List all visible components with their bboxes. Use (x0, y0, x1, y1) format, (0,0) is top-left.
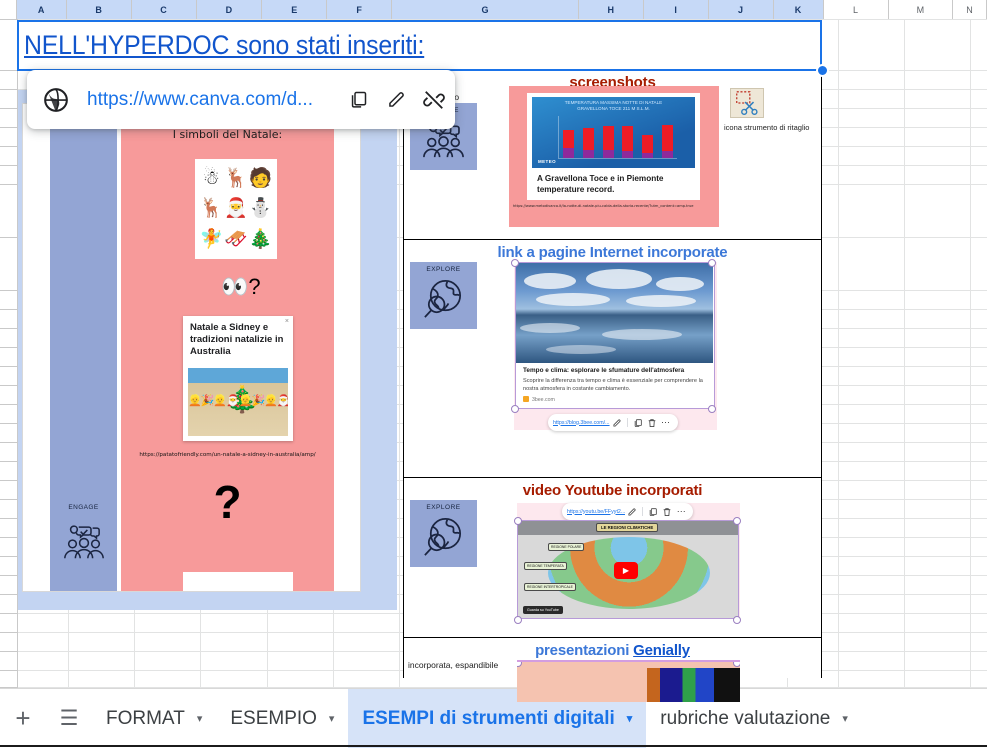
resize-handle[interactable] (733, 616, 741, 624)
chevron-down-icon[interactable]: ▾ (197, 712, 203, 725)
close-icon[interactable]: × (285, 318, 289, 325)
resize-handle[interactable] (517, 660, 522, 667)
grid-column-line (838, 19, 839, 688)
poster-title: I simboli del Natale: (121, 128, 334, 141)
copy-icon[interactable] (632, 417, 644, 429)
watch-on-youtube-label[interactable]: Guarda su YouTube (523, 606, 563, 614)
column-header-bar: ABCDEFGHIJKLMN (0, 0, 987, 20)
column-header-m[interactable]: M (889, 0, 954, 19)
tag-regione-temperata: REGIONE TEMPERATA (524, 562, 567, 570)
sheet-tab-2[interactable]: ESEMPIO▾ (216, 689, 348, 748)
chart-bar (662, 125, 673, 158)
section-screenshots: screenshots di riferimento ENGAGE (404, 70, 821, 240)
video-url-text[interactable]: https://youtu.be/FFyyt2... (567, 509, 625, 515)
section-presentazioni-genially: presentazioni Genially incorporata, espa… (404, 638, 821, 678)
sheet-tab-1[interactable]: FORMAT▾ (92, 689, 216, 748)
section-title: presentazioni Genially (404, 638, 821, 659)
christmas-symbol: ☃ (203, 169, 220, 188)
column-header-l[interactable]: L (824, 0, 889, 19)
chevron-down-icon[interactable]: ▾ (842, 712, 848, 725)
copy-icon[interactable] (647, 506, 659, 518)
sheet-tab-label: rubriche valutazione (660, 708, 830, 730)
web-card-headline: Tempo e clima: esplorare le sfumature de… (523, 367, 684, 374)
snipping-tool-label: icona strumento di ritaglio (724, 123, 810, 133)
christmas-symbol: 🦌 (199, 199, 223, 218)
plus-icon[interactable]: + (0, 699, 46, 739)
eyes-question-emoji: 👀? (221, 274, 261, 300)
sheet-tab-label: ESEMPIO (230, 708, 317, 730)
resize-handle[interactable] (514, 616, 522, 624)
column-header-n[interactable]: N (953, 0, 986, 19)
column-header-a[interactable]: A (17, 0, 67, 19)
screenshot-card[interactable]: TEMPERATURA MASSIMA NOTTE DI NATALE GRAV… (509, 86, 719, 227)
more-options-icon[interactable]: ⋯ (660, 417, 672, 429)
christmas-symbol: 🦌 (224, 169, 248, 188)
selected-title-cell[interactable]: NELL'HYPERDOC sono stati inseriti: (17, 20, 822, 71)
row-header-strip[interactable] (0, 19, 18, 688)
sky-clouds-photo (516, 263, 713, 363)
link-action-toolbar[interactable]: https://blog.3bee.com/... ⋯ (548, 414, 678, 431)
edit-icon[interactable] (626, 506, 638, 518)
section-title: link a pagine Internet incorporate (404, 240, 821, 261)
remove-link-icon[interactable] (417, 83, 451, 117)
web-card-source: 3bee.com (523, 396, 555, 403)
resize-handle[interactable] (733, 660, 740, 667)
link-url-text[interactable]: https://blog.3bee.com/... (553, 420, 610, 426)
delete-icon[interactable] (661, 506, 673, 518)
beach-christmas-photo: 🎄 👱🎉👱🎅👱🎉👱🎅👱🎉👱 (188, 368, 288, 436)
column-header-d[interactable]: D (197, 0, 263, 19)
chevron-down-icon[interactable]: ▾ (329, 712, 335, 725)
youtube-player-frame[interactable]: LE REGIONI CLIMATICHE REGIONE POLARE REG… (517, 520, 739, 619)
resize-handle[interactable] (708, 405, 716, 413)
section-link-pagine-internet: link a pagine Internet incorporate EXPLO… (404, 240, 821, 478)
christmas-symbol: 🎄 (249, 230, 273, 249)
edit-link-icon[interactable] (379, 83, 413, 117)
sheet-tab-label: ESEMPI di strumenti digitali (362, 708, 614, 730)
genially-link[interactable]: Genially (633, 642, 690, 659)
youtube-play-button[interactable]: ▶ (614, 562, 638, 579)
column-header-j[interactable]: J (709, 0, 774, 19)
chart-bar (563, 130, 574, 158)
christmas-symbol: 🎅 (224, 199, 248, 218)
poster-source-url: https://patatofriendly.com/un-natale-a-s… (121, 452, 334, 458)
screenshot-white-frame: TEMPERATURA MASSIMA NOTTE DI NATALE GRAV… (527, 93, 700, 200)
video-title-banner: LE REGIONI CLIMATICHE (596, 523, 658, 532)
christmas-symbols-card: ☃🦌🧑🦌🎅⛄🧚🛷🎄 (195, 159, 277, 259)
christmas-symbol: 🛷 (224, 230, 248, 249)
chart-bar (603, 126, 614, 158)
chart-bar (583, 128, 594, 158)
explore-globe-magnifier-icon (420, 514, 467, 561)
column-header-g[interactable]: G (392, 0, 579, 19)
poster-left-band (50, 104, 117, 591)
badge-label: EXPLORE (410, 266, 477, 273)
sheet-tab-bar: + ☰ FORMAT▾ESEMPIO▾ESEMPI di strumenti d… (0, 688, 987, 748)
page-title: NELL'HYPERDOC sono stati inseriti: (24, 30, 424, 61)
badge-explore: EXPLORE (410, 262, 477, 329)
news-card-title: Natale a Sidney e tradizioni natalizie i… (183, 316, 293, 358)
selection-fill-handle[interactable] (816, 64, 829, 77)
engagement-people-icon (61, 519, 107, 565)
resize-handle[interactable] (511, 259, 519, 267)
copy-link-icon[interactable] (341, 83, 375, 117)
sheet-tab-label: FORMAT (106, 708, 185, 730)
chevron-down-icon[interactable]: ▾ (627, 712, 633, 725)
screenshot-caption: A Gravellona Toce e in Piemonte temperat… (537, 173, 692, 195)
christmas-symbol: ⛄ (249, 199, 273, 218)
badge-label: EXPLORE (410, 504, 477, 511)
resize-handle[interactable] (511, 405, 519, 413)
chart-plot-area (558, 116, 677, 159)
column-header-f[interactable]: F (327, 0, 392, 19)
hamburger-menu-icon[interactable]: ☰ (46, 699, 92, 739)
embedded-web-link-card[interactable]: Tempo e clima: esplorare le sfumature de… (514, 262, 717, 430)
section-video-youtube: video Youtube incorporati EXPLORE (404, 478, 821, 638)
globe-icon (43, 87, 69, 113)
poster-engage-label: ENGAGE (50, 504, 117, 511)
delete-icon[interactable] (646, 417, 658, 429)
column-header-i[interactable]: I (644, 0, 709, 19)
poster-bottom-strip (183, 572, 293, 591)
explore-globe-magnifier-icon (420, 276, 467, 323)
christmas-symbol: 🧚 (199, 230, 223, 249)
chart-logo: METEO (538, 159, 556, 164)
grid-column-line (904, 19, 905, 688)
select-all-corner[interactable] (0, 0, 17, 19)
section-title-prefix: presentazioni (535, 642, 633, 659)
badge-explore: EXPLORE (410, 500, 477, 567)
christmas-symbol: 🧑 (249, 169, 273, 188)
link-preview-popup[interactable]: https://www.canva.com/d... (27, 70, 455, 129)
tag-regione-polare: REGIONE POLARE (548, 543, 584, 551)
spreadsheet-app: ABCDEFGHIJKLMN I simboli del Natale: ☃🦌🧑… (0, 0, 987, 747)
resize-handle[interactable] (708, 259, 716, 267)
link-url-text[interactable]: https://www.canva.com/d... (87, 89, 341, 111)
chart-bar (622, 126, 633, 158)
canva-poster-image[interactable]: I simboli del Natale: ☃🦌🧑🦌🎅⛄🧚🛷🎄 👀? × Nat… (23, 104, 360, 591)
chart-title: TEMPERATURA MASSIMA NOTTE DI NATALE (565, 100, 663, 105)
web-card-frame: Tempo e clima: esplorare le sfumature de… (515, 262, 715, 409)
web-card-description: Scoprire la differenza tra tempo e clima… (523, 377, 705, 393)
snipping-tool-icon (730, 88, 764, 118)
column-header-b[interactable]: B (67, 0, 132, 19)
more-options-icon[interactable]: ⋯ (675, 506, 687, 518)
tag-regione-intertropicale: REGIONE INTERTROPICALE (524, 583, 576, 591)
column-header-h[interactable]: H (579, 0, 644, 19)
column-header-k[interactable]: K (774, 0, 824, 19)
poster-question-mark: ? (121, 479, 334, 525)
resize-handle[interactable] (733, 517, 741, 525)
embedded-youtube-card[interactable]: https://youtu.be/FFyyt2... ⋯ LE RE (517, 503, 740, 619)
edit-icon[interactable] (611, 417, 623, 429)
genially-preview-strip (647, 668, 740, 702)
embedded-genially-card[interactable] (517, 660, 740, 702)
screenshot-source-url: https://www.metodivarco.it/la-notte-di-n… (513, 204, 713, 209)
embedded-news-card[interactable]: × Natale a Sidney e tradizioni natalizie… (183, 316, 293, 441)
chart-bar (642, 135, 653, 158)
grid-column-line (970, 19, 971, 688)
beach-people: 👱🎉👱🎅👱🎉👱🎅👱🎉👱 (188, 394, 288, 407)
column-header-c[interactable]: C (132, 0, 197, 19)
temperature-bar-chart: TEMPERATURA MASSIMA NOTTE DI NATALE GRAV… (532, 97, 695, 168)
chart-subtitle: GRAVELLONA TOCE 211 M S.L.M. (577, 106, 650, 111)
content-column: screenshots di riferimento ENGAGE (403, 70, 822, 678)
resize-handle[interactable] (514, 517, 522, 525)
video-action-toolbar[interactable]: https://youtu.be/FFyyt2... ⋯ (562, 503, 693, 520)
section-sidenote: incorporata, espandibile (408, 660, 498, 671)
section-title: video Youtube incorporati (404, 478, 821, 499)
column-header-e[interactable]: E (262, 0, 327, 19)
